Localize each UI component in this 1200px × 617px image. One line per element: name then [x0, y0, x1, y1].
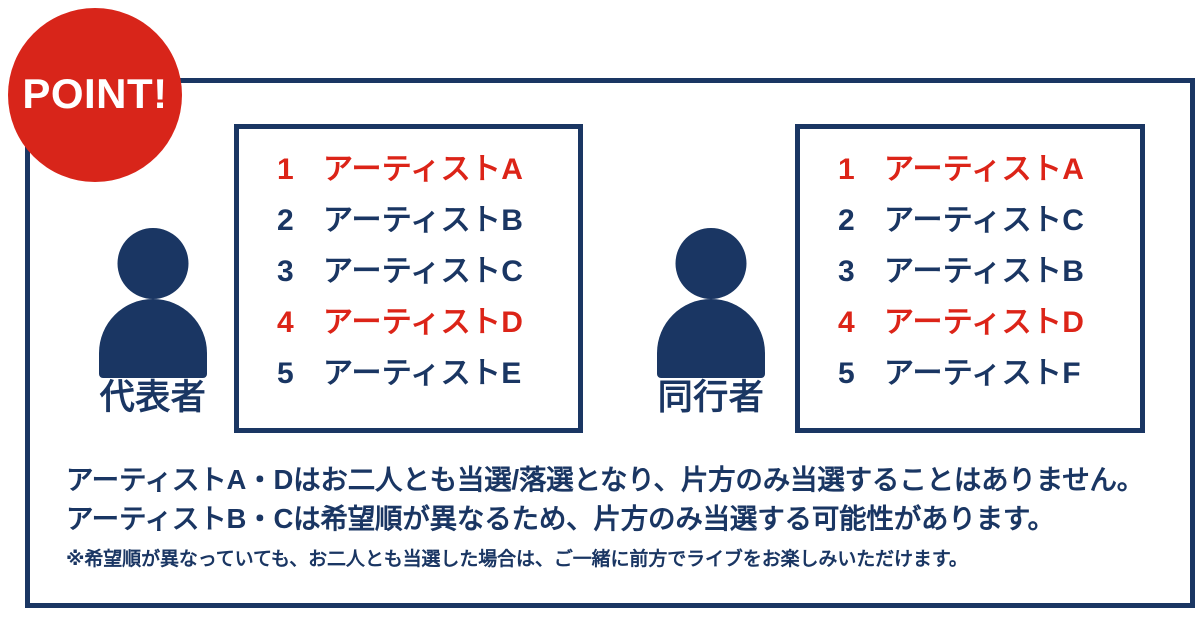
- person-representative-label: 代表者: [78, 380, 228, 417]
- notes-block: アーティストA・Dはお二人とも当選/落選となり、片方のみ当選することはありません…: [66, 460, 1146, 573]
- person-body-shape: [657, 299, 765, 378]
- preference-artist-name: アーティストC: [884, 206, 1084, 236]
- preference-row: 1 アーティストA: [239, 155, 578, 206]
- preference-rank: 5: [838, 359, 884, 389]
- preference-rank: 1: [277, 155, 323, 185]
- point-badge: POINT!: [8, 8, 182, 182]
- preference-artist-name: アーティストD: [323, 308, 523, 338]
- person-companion: 同行者: [636, 228, 786, 417]
- note-line-2: アーティストB・Cは希望順が異なるため、片方のみ当選する可能性があります。: [66, 499, 1146, 538]
- person-body-shape: [99, 299, 207, 378]
- person-representative: 代表者: [78, 228, 228, 417]
- person-head-shape: [118, 228, 189, 299]
- preference-artist-name: アーティストD: [884, 308, 1084, 338]
- person-companion-label: 同行者: [636, 380, 786, 417]
- preference-row: 4 アーティストD: [239, 308, 578, 359]
- preference-row: 4 アーティストD: [800, 308, 1140, 359]
- preference-row: 5 アーティストE: [239, 359, 578, 410]
- preference-list-representative: 1 アーティストA 2 アーティストB 3 アーティストC 4 アーティストD …: [239, 129, 578, 410]
- preference-rank: 2: [838, 206, 884, 236]
- preference-rank: 2: [277, 206, 323, 236]
- preference-artist-name: アーティストB: [884, 257, 1084, 287]
- preference-row: 2 アーティストC: [800, 206, 1140, 257]
- preference-artist-name: アーティストA: [323, 155, 523, 185]
- preference-rank: 3: [277, 257, 323, 287]
- preference-artist-name: アーティストF: [884, 359, 1081, 389]
- preference-row: 2 アーティストB: [239, 206, 578, 257]
- point-badge-label: POINT!: [22, 73, 167, 115]
- preference-row: 3 アーティストC: [239, 257, 578, 308]
- preference-rank: 4: [277, 308, 323, 338]
- preference-artist-name: アーティストC: [323, 257, 523, 287]
- preference-row: 5 アーティストF: [800, 359, 1140, 410]
- preference-rank: 3: [838, 257, 884, 287]
- preference-rank: 4: [838, 308, 884, 338]
- preference-row: 1 アーティストA: [800, 155, 1140, 206]
- note-line-1: アーティストA・Dはお二人とも当選/落選となり、片方のみ当選することはありません…: [66, 460, 1146, 499]
- preference-artist-name: アーティストE: [323, 359, 522, 389]
- person-icon: [90, 228, 216, 378]
- infographic-canvas: POINT! 代表者 同行者 1 アーティストA 2 アーティストB: [0, 0, 1200, 617]
- preference-rank: 5: [277, 359, 323, 389]
- preference-artist-name: アーティストA: [884, 155, 1084, 185]
- preference-list-companion: 1 アーティストA 2 アーティストC 3 アーティストB 4 アーティストD …: [800, 129, 1140, 410]
- preference-artist-name: アーティストB: [323, 206, 523, 236]
- preference-row: 3 アーティストB: [800, 257, 1140, 308]
- preference-box-companion: 1 アーティストA 2 アーティストC 3 アーティストB 4 アーティストD …: [795, 124, 1145, 433]
- note-line-3: ※希望順が異なっていても、お二人とも当選した場合は、ご一緒に前方でライブをお楽し…: [66, 548, 1146, 573]
- preference-box-representative: 1 アーティストA 2 アーティストB 3 アーティストC 4 アーティストD …: [234, 124, 583, 433]
- person-icon: [648, 228, 774, 378]
- preference-rank: 1: [838, 155, 884, 185]
- person-head-shape: [676, 228, 747, 299]
